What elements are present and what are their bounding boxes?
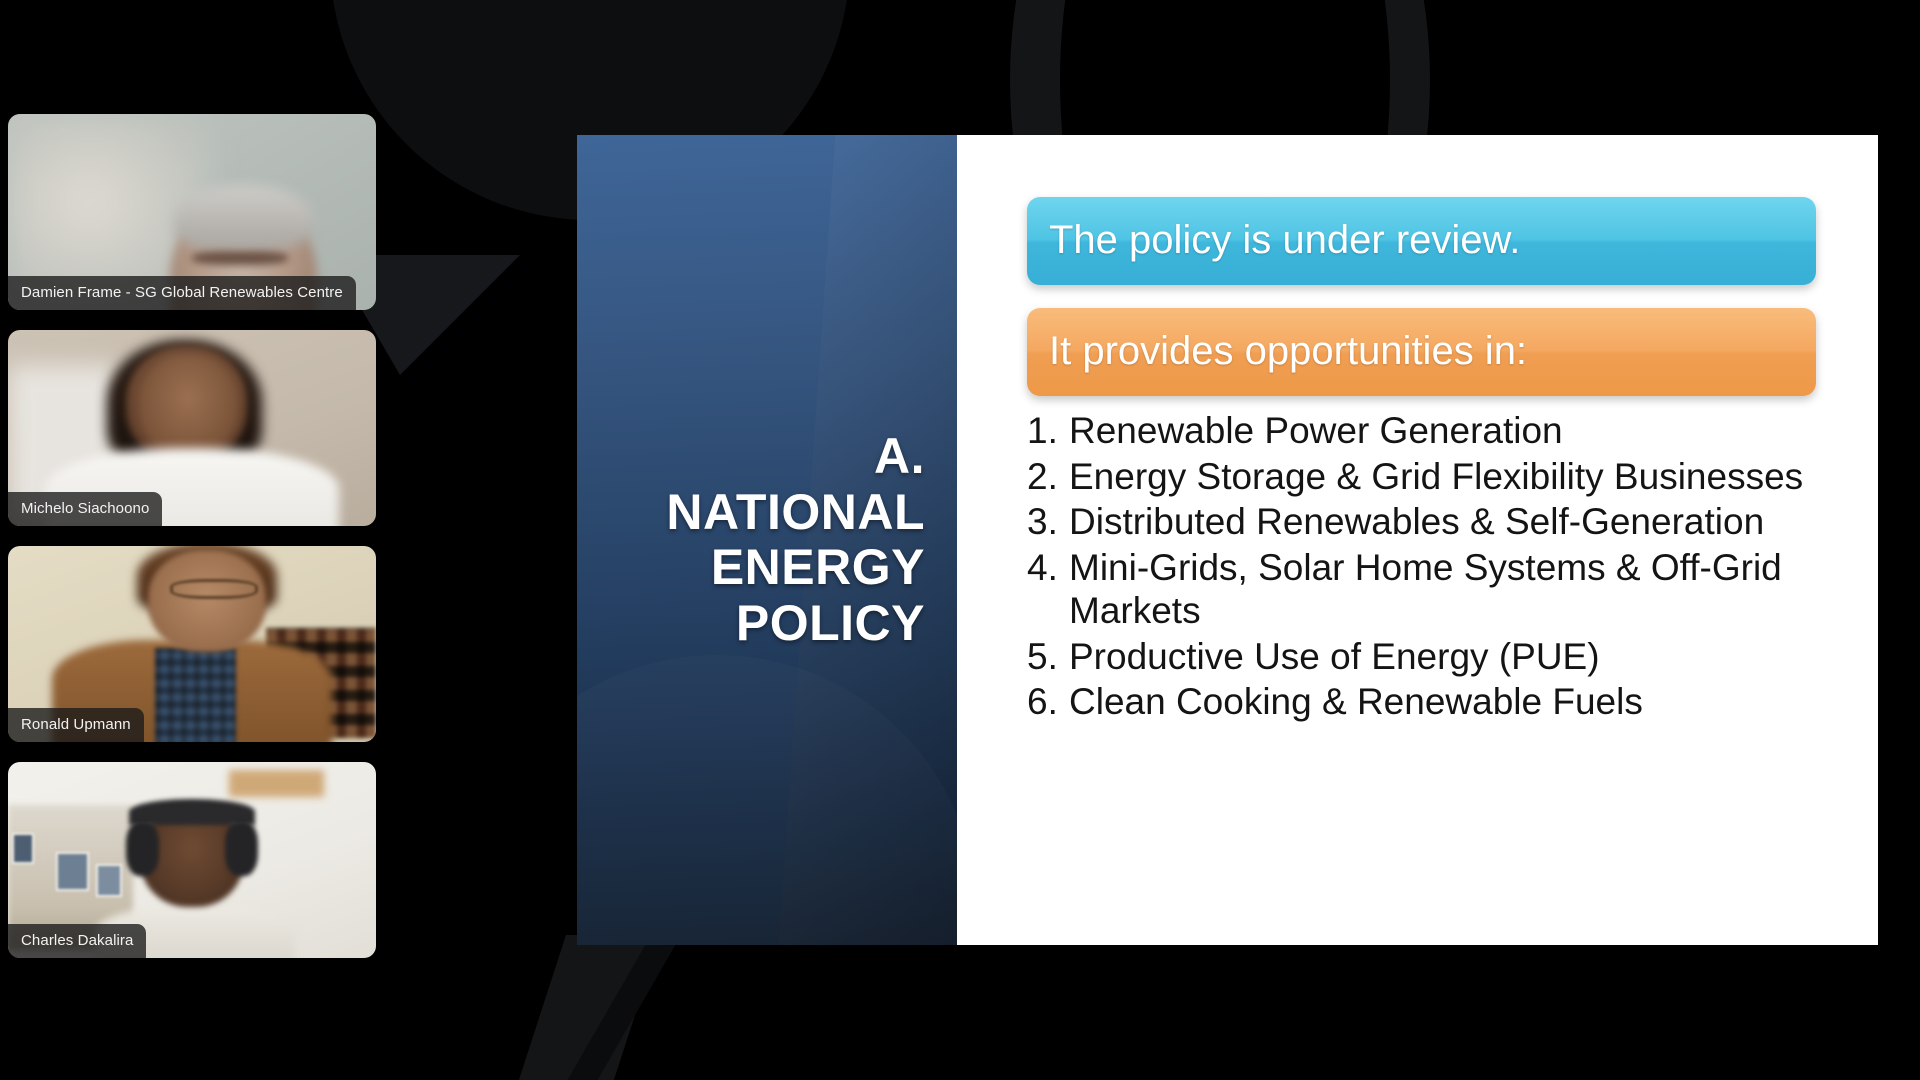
list-item: Renewable Power Generation (1027, 410, 1816, 453)
wall-picture-frame (12, 833, 34, 864)
participant-tile-ronald-upmann[interactable]: Ronald Upmann (8, 546, 376, 742)
participant-tile-damien-frame[interactable]: Damien Frame - SG Global Renewables Cent… (8, 114, 376, 310)
participant-name-badge: Charles Dakalira (8, 924, 146, 958)
list-item: Energy Storage & Grid Flexibility Busine… (1027, 456, 1816, 499)
shared-screen-slide[interactable]: A. NATIONAL ENERGY POLICY The policy is … (577, 135, 1878, 945)
participant-tile-charles-dakalira[interactable]: Charles Dakalira (8, 762, 376, 958)
banner-policy-under-review: The policy is under review. (1027, 197, 1816, 285)
slide-title: A. NATIONAL ENERGY POLICY (666, 429, 957, 651)
video-background-shelf (229, 770, 325, 797)
list-item: Clean Cooking & Renewable Fuels (1027, 681, 1816, 724)
wall-picture-frame (56, 852, 89, 891)
participant-name-badge: Michelo Siachoono (8, 492, 162, 526)
person-glasses (170, 579, 258, 599)
wall-picture-frame (96, 864, 122, 897)
person-brow (192, 251, 288, 265)
banner-opportunities: It provides opportunities in: (1027, 308, 1816, 396)
opportunity-list: Renewable Power Generation Energy Storag… (1027, 410, 1816, 724)
slide-decoration-circle (577, 655, 957, 945)
headphone-earcup-right (225, 821, 258, 876)
participant-name-badge: Damien Frame - SG Global Renewables Cent… (8, 276, 356, 310)
participant-name-badge: Ronald Upmann (8, 708, 144, 742)
headphone-earcup-left (126, 821, 159, 876)
person-plaid-shirt (155, 648, 236, 742)
person-head (148, 550, 266, 652)
participant-tile-michelo-siachoono[interactable]: Michelo Siachoono (8, 330, 376, 526)
list-item: Mini-Grids, Solar Home Systems & Off-Gri… (1027, 547, 1816, 632)
person-hair (174, 185, 314, 252)
slide-body: The policy is under review. It provides … (957, 135, 1878, 945)
slide-title-panel: A. NATIONAL ENERGY POLICY (577, 135, 957, 945)
participant-video-rail: Damien Frame - SG Global Renewables Cent… (8, 114, 376, 978)
person-face (140, 357, 236, 455)
list-item: Distributed Renewables & Self-Generation (1027, 501, 1816, 544)
list-item: Productive Use of Energy (PUE) (1027, 636, 1816, 679)
